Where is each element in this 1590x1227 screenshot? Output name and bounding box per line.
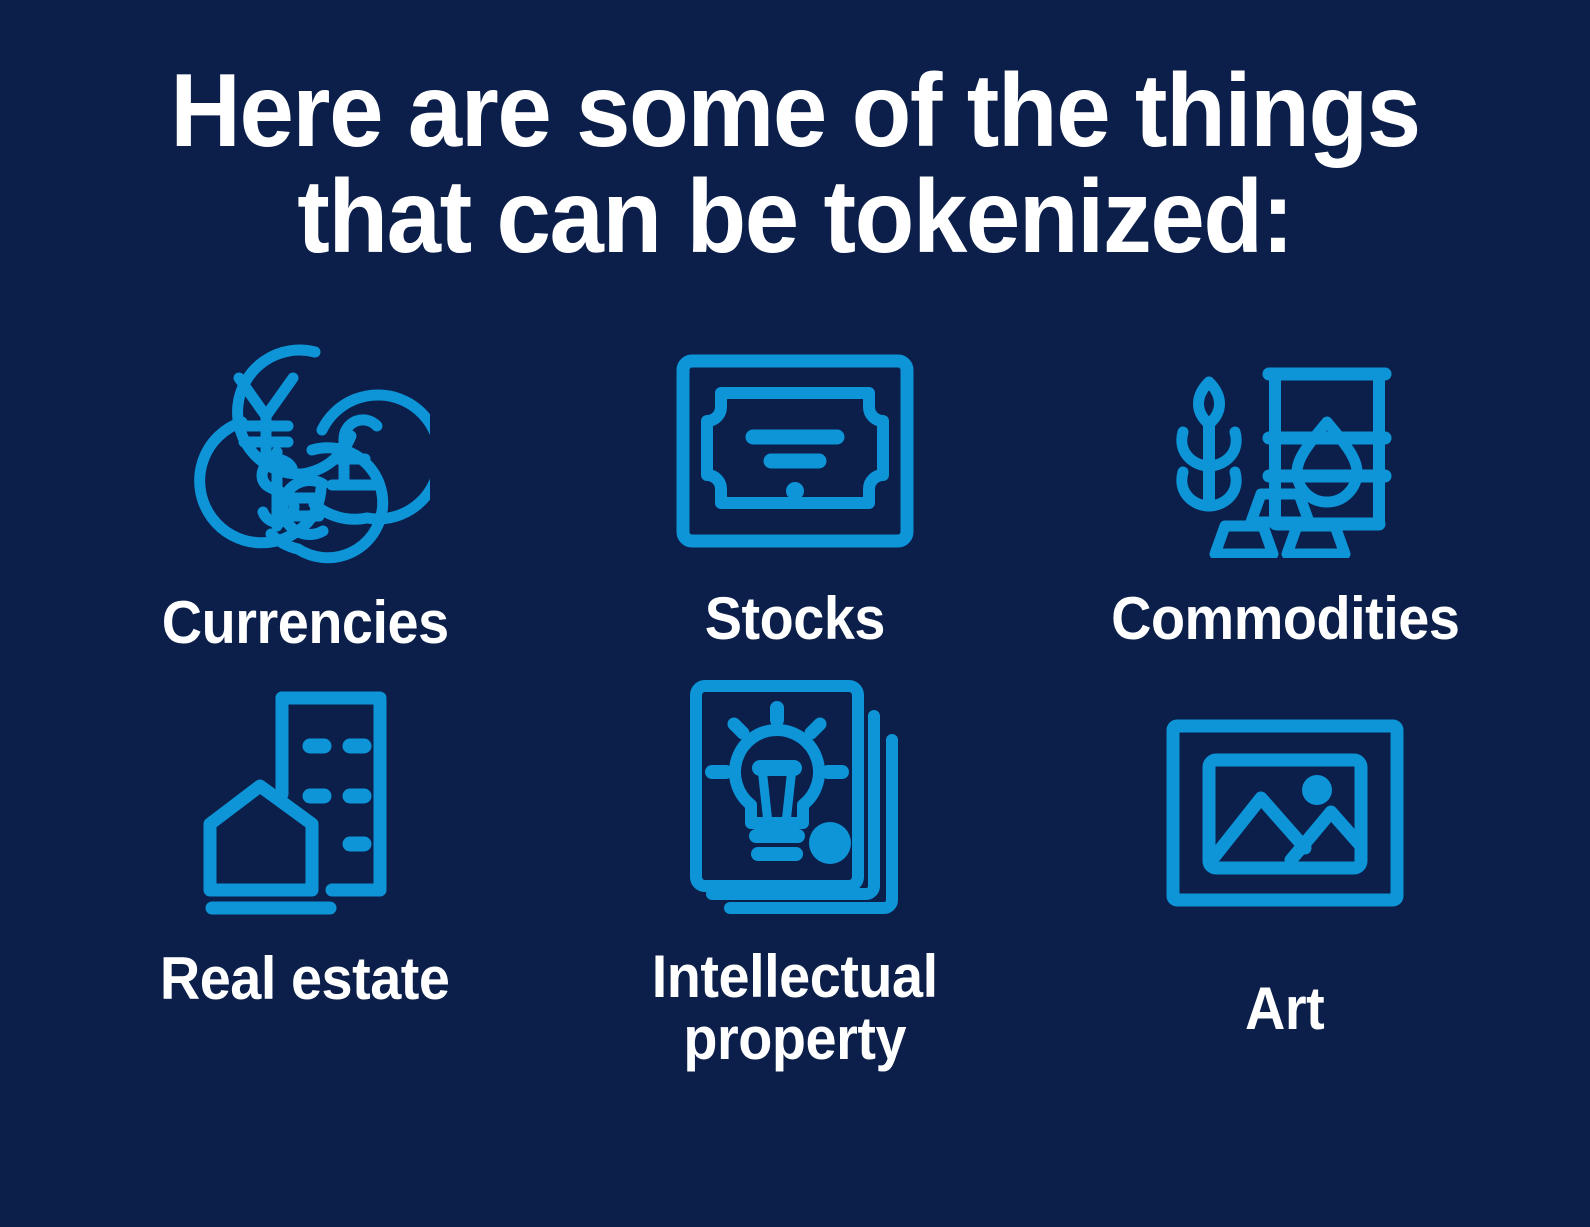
- commodities-icon: [1165, 330, 1405, 566]
- grid-item-label: Art: [1245, 978, 1324, 1040]
- page-title: Here are some of the things that can be …: [48, 58, 1543, 270]
- grid-item-label: Commodities: [1111, 588, 1459, 650]
- grid-item-label: Currencies: [162, 592, 449, 654]
- buildings-real-estate-icon: [190, 668, 420, 918]
- coins-currencies-icon: [180, 330, 430, 570]
- lightbulb-document-icon: [678, 668, 913, 918]
- grid-item-intellectual-property: Intellectual property: [550, 668, 1040, 1050]
- grid-item-currencies: Currencies: [60, 330, 550, 650]
- framed-picture-icon: [1165, 668, 1405, 918]
- grid-item-art: Art: [1040, 668, 1530, 1050]
- tokenizable-items-grid: Currencies Stocks: [60, 330, 1530, 1050]
- grid-item-commodities: Commodities: [1040, 330, 1530, 650]
- grid-item-stocks: Stocks: [550, 330, 1040, 650]
- grid-item-label: Intellectual property: [652, 946, 938, 1071]
- grid-item-label: Real estate: [160, 948, 450, 1010]
- infographic-poster: Here are some of the things that can be …: [0, 0, 1590, 1227]
- stock-certificate-icon: [675, 330, 915, 566]
- grid-item-real-estate: Real estate: [60, 668, 550, 1050]
- grid-item-label: Stocks: [705, 588, 885, 650]
